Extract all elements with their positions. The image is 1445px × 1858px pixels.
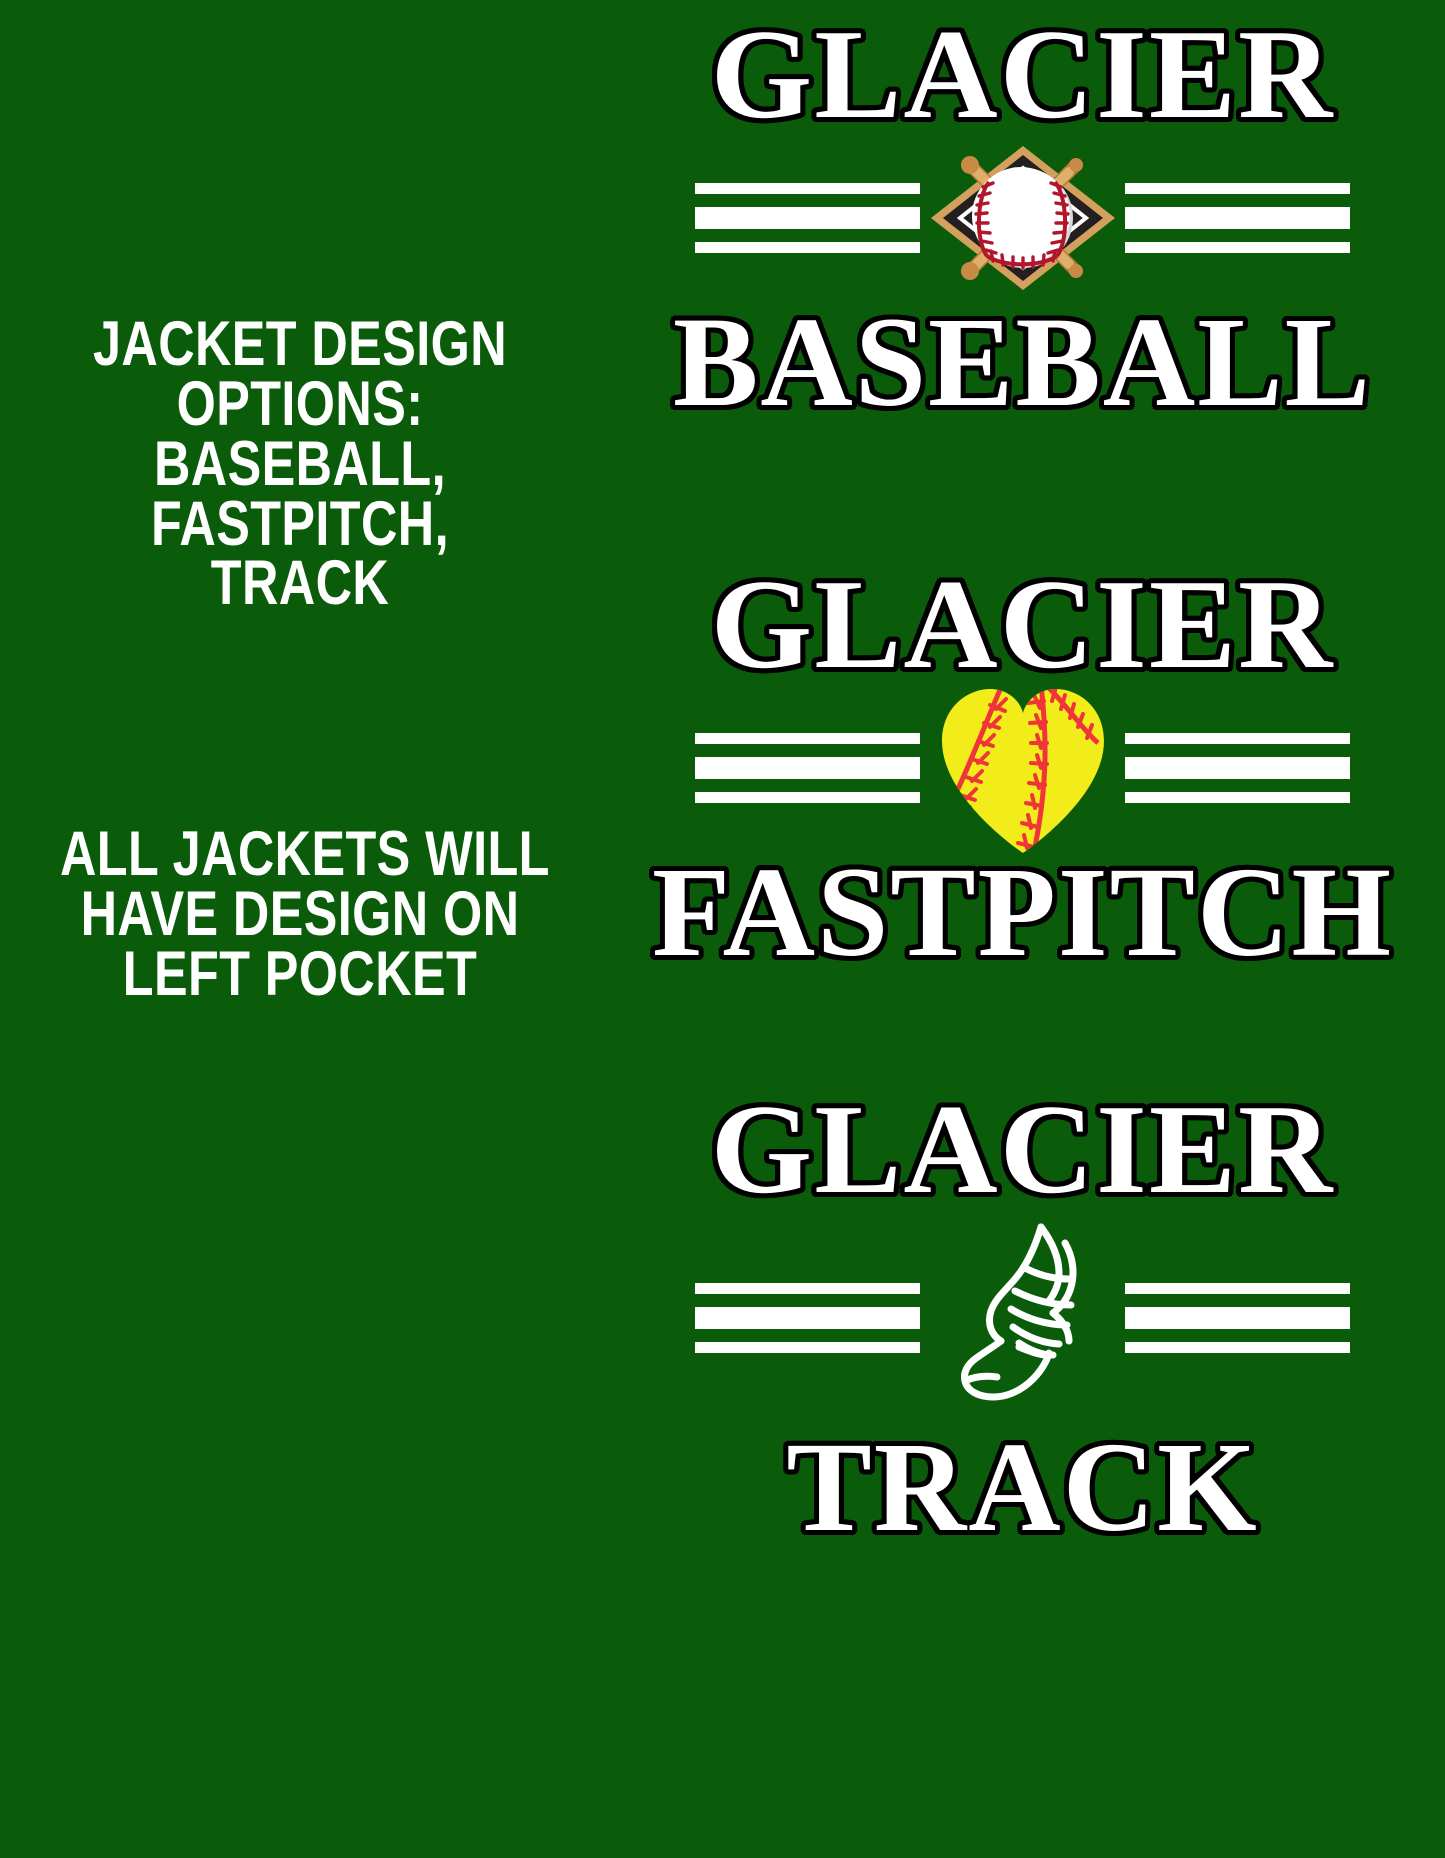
baseball-emblem-row xyxy=(600,138,1445,298)
options-line-5: TRACK xyxy=(60,554,540,614)
stripe-thin-top xyxy=(1125,1283,1350,1294)
stripe-thin-top xyxy=(695,1283,920,1294)
stripe-thick-mid xyxy=(1125,757,1350,779)
poster-canvas: JACKET DESIGN OPTIONS: BASEBALL, FASTPIT… xyxy=(0,0,1445,1858)
track-stripes-right xyxy=(1125,1283,1350,1353)
baseball-sport-name: BASEBALL xyxy=(600,298,1445,426)
stripe-thick-mid xyxy=(1125,1307,1350,1329)
track-team-name: GLACIER xyxy=(592,1085,1445,1213)
left-text-column: JACKET DESIGN OPTIONS: BASEBALL, FASTPIT… xyxy=(0,0,600,1858)
fastpitch-stripes-left xyxy=(695,733,920,803)
stripe-thin-bottom xyxy=(695,242,920,253)
design-option-fastpitch: GLACIER xyxy=(600,560,1445,1000)
options-line-3: BASEBALL, xyxy=(60,435,540,495)
jacket-design-options-text: JACKET DESIGN OPTIONS: BASEBALL, FASTPIT… xyxy=(60,315,540,614)
stripe-thin-bottom xyxy=(1125,242,1350,253)
pocket-line-2: HAVE DESIGN ON xyxy=(60,885,540,945)
track-sport-name: TRACK xyxy=(600,1423,1445,1551)
track-emblem-row xyxy=(600,1213,1445,1423)
stripe-thick-mid xyxy=(695,1307,920,1329)
pocket-line-3: LEFT POCKET xyxy=(60,945,540,1005)
baseball-stripes-left xyxy=(695,183,920,253)
stripe-thin-top xyxy=(695,733,920,744)
winged-foot-icon xyxy=(920,1213,1125,1423)
stripe-thin-top xyxy=(1125,183,1350,194)
stripe-thin-bottom xyxy=(695,792,920,803)
options-line-1: JACKET DESIGN xyxy=(60,315,540,375)
track-stripes-left xyxy=(695,1283,920,1353)
stripe-thick-mid xyxy=(1125,207,1350,229)
design-option-track: GLACIER xyxy=(600,1085,1445,1545)
stripe-thin-bottom xyxy=(1125,1342,1350,1353)
baseball-diamond-crossed-bats-icon xyxy=(920,138,1125,298)
stripe-thin-bottom xyxy=(1125,792,1350,803)
stripe-thin-top xyxy=(695,183,920,194)
fastpitch-sport-name: FASTPITCH xyxy=(600,848,1445,976)
fastpitch-emblem-row xyxy=(600,688,1445,848)
softball-heart-icon xyxy=(920,688,1125,848)
design-option-baseball: GLACIER xyxy=(600,10,1445,450)
left-pocket-note-text: ALL JACKETS WILL HAVE DESIGN ON LEFT POC… xyxy=(60,825,540,1005)
options-line-2: OPTIONS: xyxy=(60,375,540,435)
baseball-stripes-right xyxy=(1125,183,1350,253)
pocket-line-1: ALL JACKETS WILL xyxy=(60,825,540,885)
stripe-thick-mid xyxy=(695,757,920,779)
stripe-thin-top xyxy=(1125,733,1350,744)
fastpitch-stripes-right xyxy=(1125,733,1350,803)
baseball-team-name: GLACIER xyxy=(592,10,1445,138)
fastpitch-team-name: GLACIER xyxy=(592,560,1445,688)
stripe-thin-bottom xyxy=(695,1342,920,1353)
options-line-4: FASTPITCH, xyxy=(60,495,540,555)
stripe-thick-mid xyxy=(695,207,920,229)
